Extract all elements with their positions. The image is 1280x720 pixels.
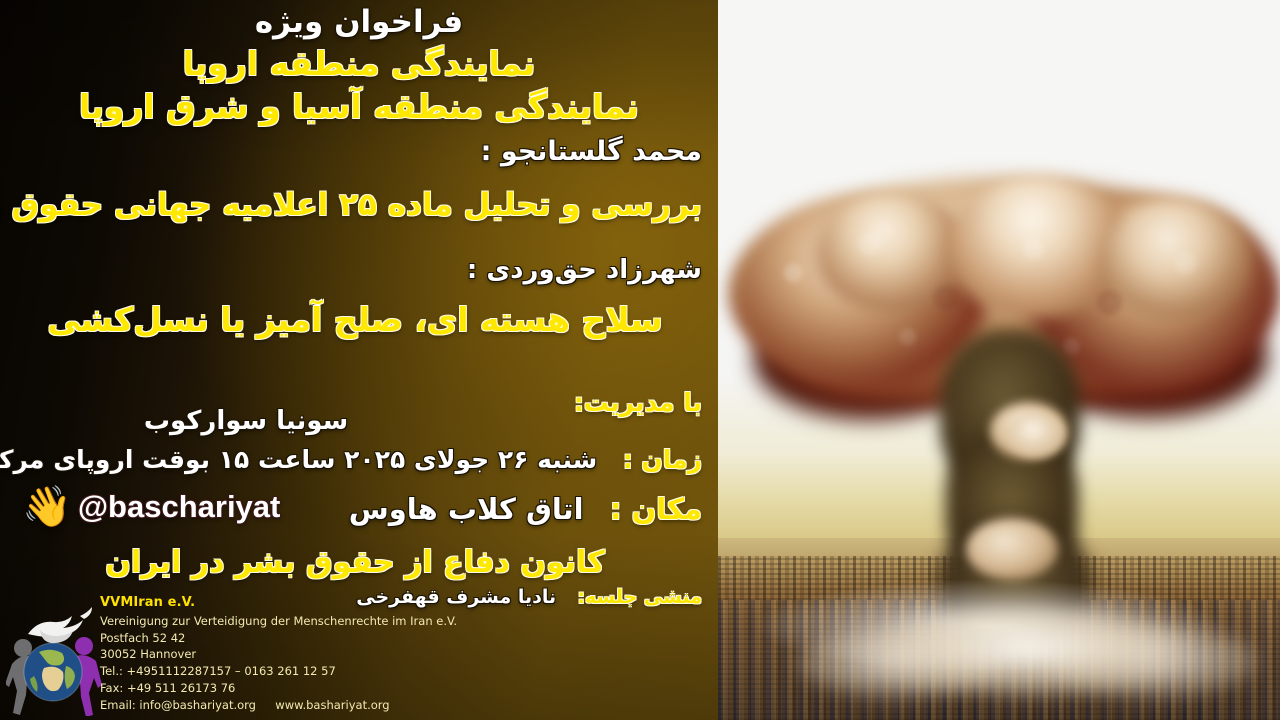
event-place-value: اتاق کلاب هاوس — [349, 492, 584, 526]
moderator-name: سونیا سوارکوب — [0, 408, 700, 435]
waving-hand-icon: 👋 — [22, 487, 72, 527]
contact-website[interactable]: www.bashariyat.org — [275, 698, 389, 712]
social-handle-text[interactable]: @baschariyat — [78, 489, 281, 525]
secretary-label: منشی جلسه: — [577, 586, 702, 608]
contact-org-short: VVMIran e.V. — [100, 593, 457, 612]
event-place-label: مکان : — [610, 492, 702, 526]
event-time-row: زمان : شنبه ۲۶ جولای ۲۰۲۵ ساعت ۱۵ بوقت ا… — [8, 447, 702, 473]
speaker-two-topic: سلاح هسته ای، صلح آمیز یا نسل‌کشی — [8, 303, 702, 338]
social-handle-row[interactable]: 👋 @baschariyat — [22, 487, 280, 527]
contact-fax: Fax: +49 511 26173 76 — [100, 680, 457, 697]
poster-region-asia-east-europe: نمایندگی منطقه آسیا و شرق اروپا — [8, 90, 710, 125]
contact-tel: Tel.: +4951112287157 – 0163 261 12 57 — [100, 663, 457, 680]
speaker-one-name: محمد گلستانجو : — [8, 138, 702, 166]
contact-email-row: Email: info@bashariyat.org www.bashariya… — [100, 697, 457, 714]
event-poster: فراخوان ویژه نمایندگی منطقه اروپا نمایند… — [0, 0, 1280, 720]
contact-po-box: Postfach 52 42 — [100, 630, 457, 647]
speaker-one-topic: بررسی و تحلیل ماده ۲۵ اعلامیه جهانی حقوق… — [8, 189, 702, 222]
photo-base-smoke — [868, 608, 1188, 698]
vvmiran-globe-dove-logo — [6, 586, 102, 716]
speaker-two-name: شهرزاد حق‌وردی : — [8, 257, 702, 284]
event-time-label: زمان : — [623, 445, 702, 474]
poster-headline: فراخوان ویژه — [8, 6, 710, 39]
event-time-value: شنبه ۲۶ جولای ۲۰۲۵ ساعت ۱۵ بوقت اروپای م… — [0, 445, 597, 474]
contact-org-full: Vereinigung zur Verteidigung der Mensche… — [100, 613, 457, 630]
poster-text-panel: فراخوان ویژه نمایندگی منطقه اروپا نمایند… — [0, 0, 718, 720]
poster-region-europe: نمایندگی منطقه اروپا — [8, 47, 710, 82]
logo-globe — [24, 643, 82, 701]
contact-block: VVMIran e.V. Vereinigung zur Verteidigun… — [100, 593, 457, 714]
contact-email[interactable]: Email: info@bashariyat.org — [100, 698, 256, 712]
organization-name: کانون دفاع از حقوق بشر در ایران — [8, 547, 702, 579]
contact-city: 30052 Hannover — [100, 646, 457, 663]
nuclear-explosion-photo — [718, 0, 1280, 720]
